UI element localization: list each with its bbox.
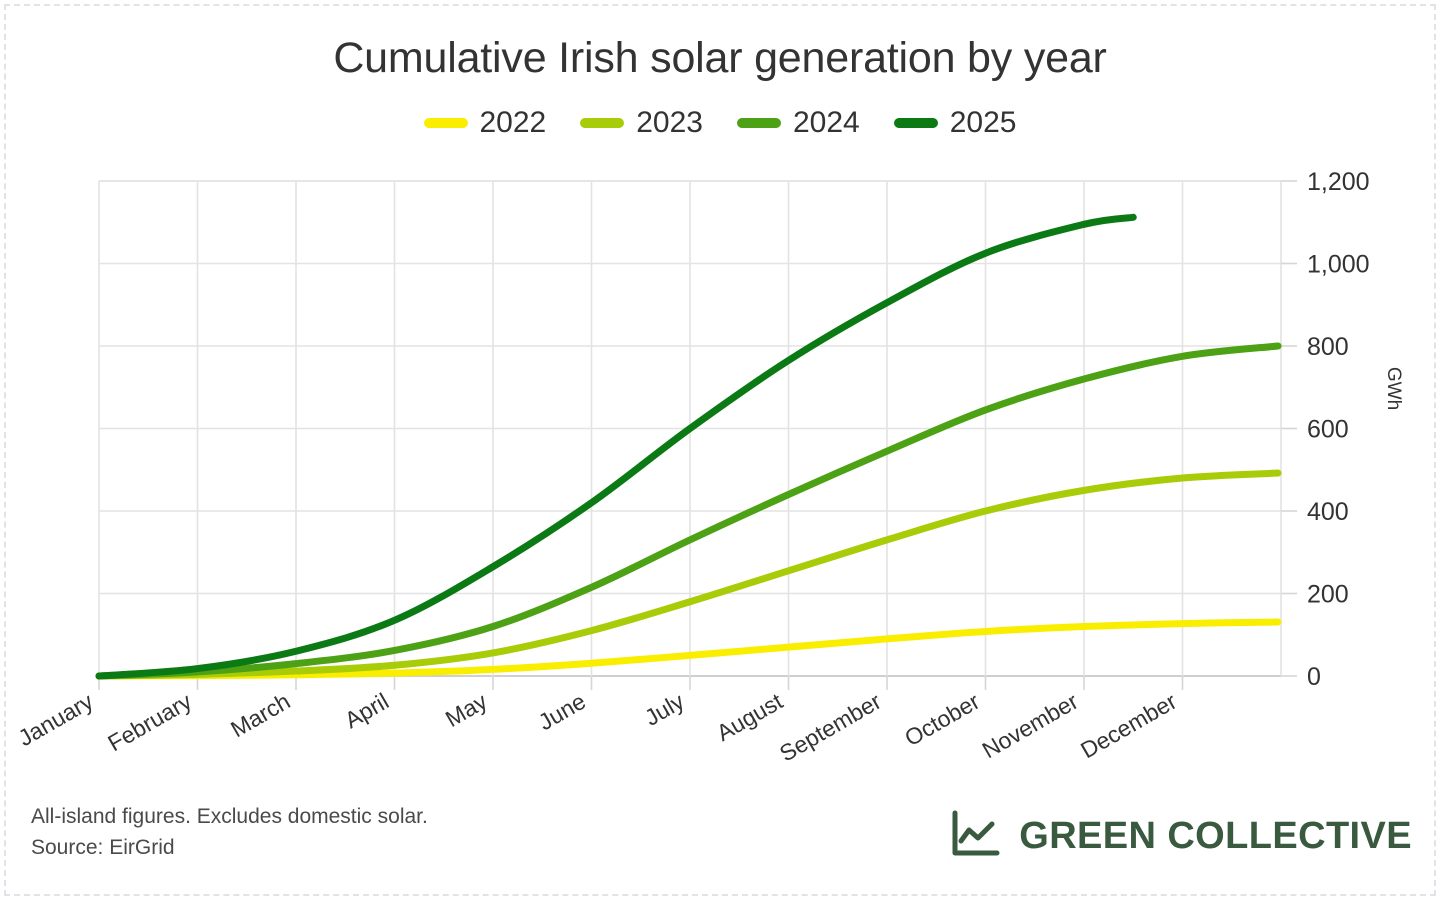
x-axis-ticks: JanuaryFebruaryMarchAprilMayJuneJulyAugu… bbox=[14, 676, 1183, 767]
y-axis-title: GWh bbox=[1383, 367, 1404, 410]
x-tick-label: January bbox=[14, 688, 98, 752]
series-line-2023 bbox=[99, 473, 1278, 676]
x-tick-label: April bbox=[340, 688, 393, 734]
x-tick-label: July bbox=[640, 688, 689, 731]
y-tick-label: 400 bbox=[1307, 498, 1349, 526]
y-tick-label: 600 bbox=[1307, 416, 1349, 444]
x-tick-label: December bbox=[1076, 688, 1181, 764]
line-chart-icon bbox=[949, 808, 1001, 865]
y-tick-label: 0 bbox=[1307, 663, 1321, 691]
x-tick-label: February bbox=[103, 688, 196, 757]
series-lines bbox=[99, 217, 1278, 676]
y-tick-label: 1,000 bbox=[1307, 251, 1370, 279]
brand-lockup: GREEN COLLECTIVE bbox=[949, 808, 1412, 865]
footnote-line-1: All-island figures. Excludes domestic so… bbox=[31, 801, 428, 832]
line-chart-svg: 02004006008001,0001,200 JanuaryFebruaryM… bbox=[0, 0, 1440, 900]
y-tick-label: 800 bbox=[1307, 333, 1349, 361]
x-tick-label: September bbox=[775, 688, 886, 767]
x-tick-label: June bbox=[534, 688, 590, 735]
y-axis-ticks: 02004006008001,0001,200 bbox=[1281, 168, 1370, 691]
x-tick-label: November bbox=[978, 688, 1083, 764]
footnote-line-2: Source: EirGrid bbox=[31, 832, 428, 863]
x-tick-label: October bbox=[900, 688, 984, 752]
series-line-2025 bbox=[99, 217, 1133, 676]
y-tick-label: 1,200 bbox=[1307, 168, 1370, 196]
x-tick-label: May bbox=[441, 688, 492, 732]
x-tick-label: March bbox=[226, 688, 294, 742]
footnote: All-island figures. Excludes domestic so… bbox=[31, 801, 428, 863]
brand-name: GREEN COLLECTIVE bbox=[1019, 815, 1412, 858]
chart-page: Cumulative Irish solar generation by yea… bbox=[0, 0, 1440, 900]
chart-plot-area: 02004006008001,0001,200 JanuaryFebruaryM… bbox=[0, 0, 1440, 900]
x-tick-label: August bbox=[712, 688, 788, 747]
y-tick-label: 200 bbox=[1307, 581, 1349, 609]
